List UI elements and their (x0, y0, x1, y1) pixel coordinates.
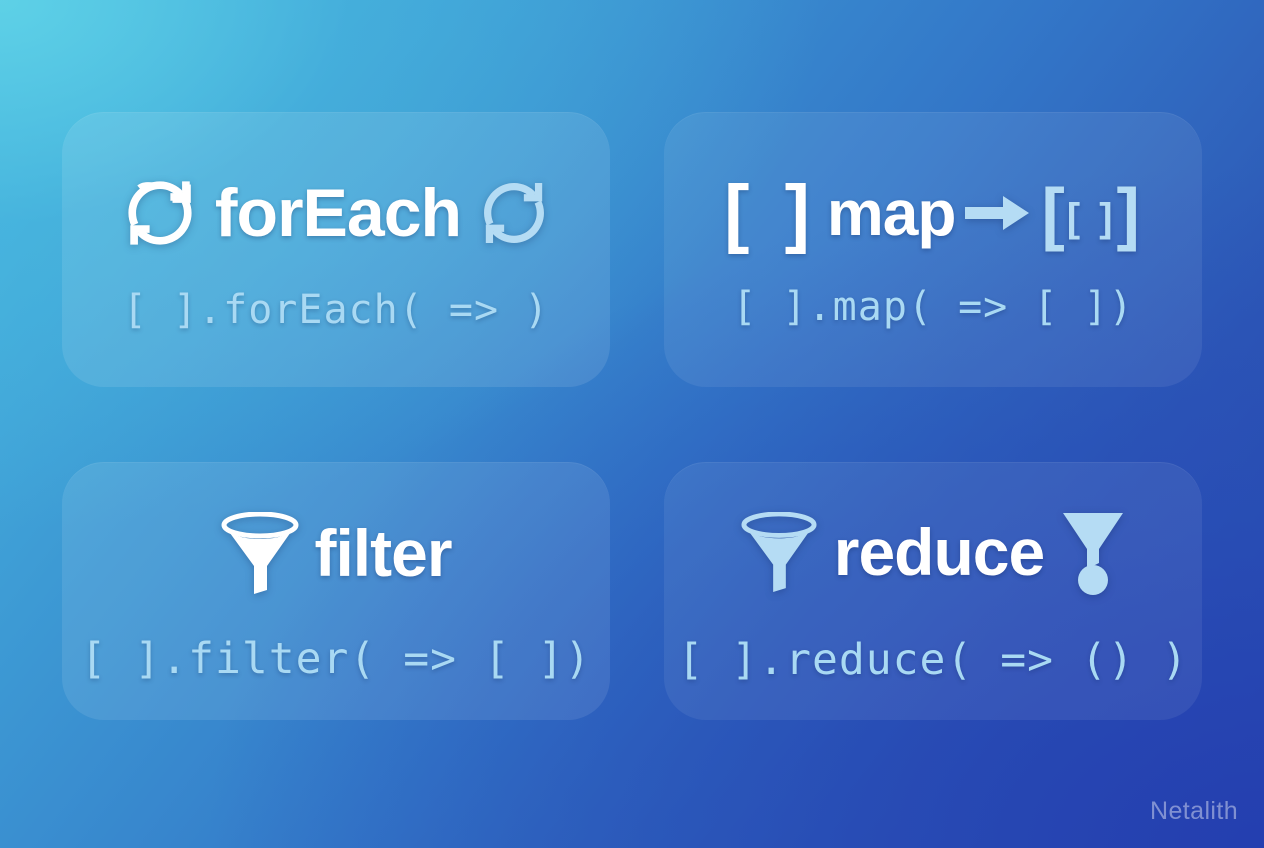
card-foreach-code: [ ].forEach( => ) (123, 290, 549, 330)
infographic-canvas: forEach [ ].forEach( => ) [ ] map [[ ]] (0, 0, 1264, 848)
method-card-grid: forEach [ ].forEach( => ) [ ] map [[ ]] (62, 112, 1202, 720)
refresh-loop-icon (477, 176, 551, 250)
funnel-icon (740, 512, 818, 592)
card-map-title: map (827, 181, 956, 245)
card-foreach-title: forEach (215, 179, 461, 247)
card-foreach-title-row: forEach (121, 174, 551, 252)
card-reduce[interactable]: reduce [ ].reduce( => () ) (664, 462, 1202, 720)
card-map[interactable]: [ ] map [[ ]] [ ].map( => [ ]) (664, 112, 1202, 387)
card-reduce-title: reduce (834, 519, 1044, 585)
card-map-title-row: [ ] map [[ ]] (724, 175, 1142, 251)
watermark: Netalith (1150, 797, 1238, 826)
refresh-loop-icon (121, 174, 199, 252)
funnel-icon (220, 512, 300, 594)
card-foreach[interactable]: forEach [ ].forEach( => ) (62, 112, 610, 387)
card-reduce-code: [ ].reduce( => () ) (678, 639, 1189, 682)
card-filter-title-row: filter (220, 512, 451, 594)
card-filter-title: filter (314, 520, 451, 586)
nested-array-bracket-pair: [[ ]] (1041, 178, 1141, 248)
card-filter-code: [ ].filter( => [ ]) (81, 638, 592, 681)
card-reduce-title-row: reduce (740, 509, 1126, 595)
arrow-right-icon (965, 190, 1031, 236)
card-map-code: [ ].map( => [ ]) (732, 287, 1133, 327)
array-bracket-pair: [ ] (724, 175, 817, 251)
funnel-dot-icon (1060, 509, 1126, 595)
card-filter[interactable]: filter [ ].filter( => [ ]) (62, 462, 610, 720)
